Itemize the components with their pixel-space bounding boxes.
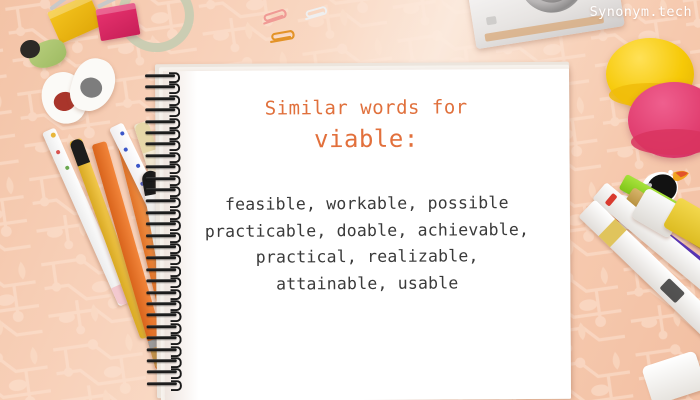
synonym-word-list: feasible, workable, possiblepracticable,… — [205, 190, 530, 299]
synonym-line: attainable, usable — [205, 270, 529, 299]
card-title: Similar words for — [265, 95, 468, 122]
synonym-line: feasible, workable, possible — [205, 190, 529, 219]
synonym-line: practical, realizable, — [205, 243, 529, 272]
eraser-gray-center — [78, 75, 105, 100]
binder-clip-pink — [96, 3, 141, 41]
screenshot-stage: Similar words for viable: feasible, work… — [0, 0, 700, 400]
synonym-line: practicable, doable, achievable, — [205, 217, 529, 246]
card-text-block: Similar words for viable: feasible, work… — [163, 69, 571, 400]
card-keyword: viable: — [314, 123, 419, 155]
spiral-notebook: Similar words for viable: feasible, work… — [149, 67, 571, 400]
site-watermark: Synonym.tech — [590, 4, 692, 20]
